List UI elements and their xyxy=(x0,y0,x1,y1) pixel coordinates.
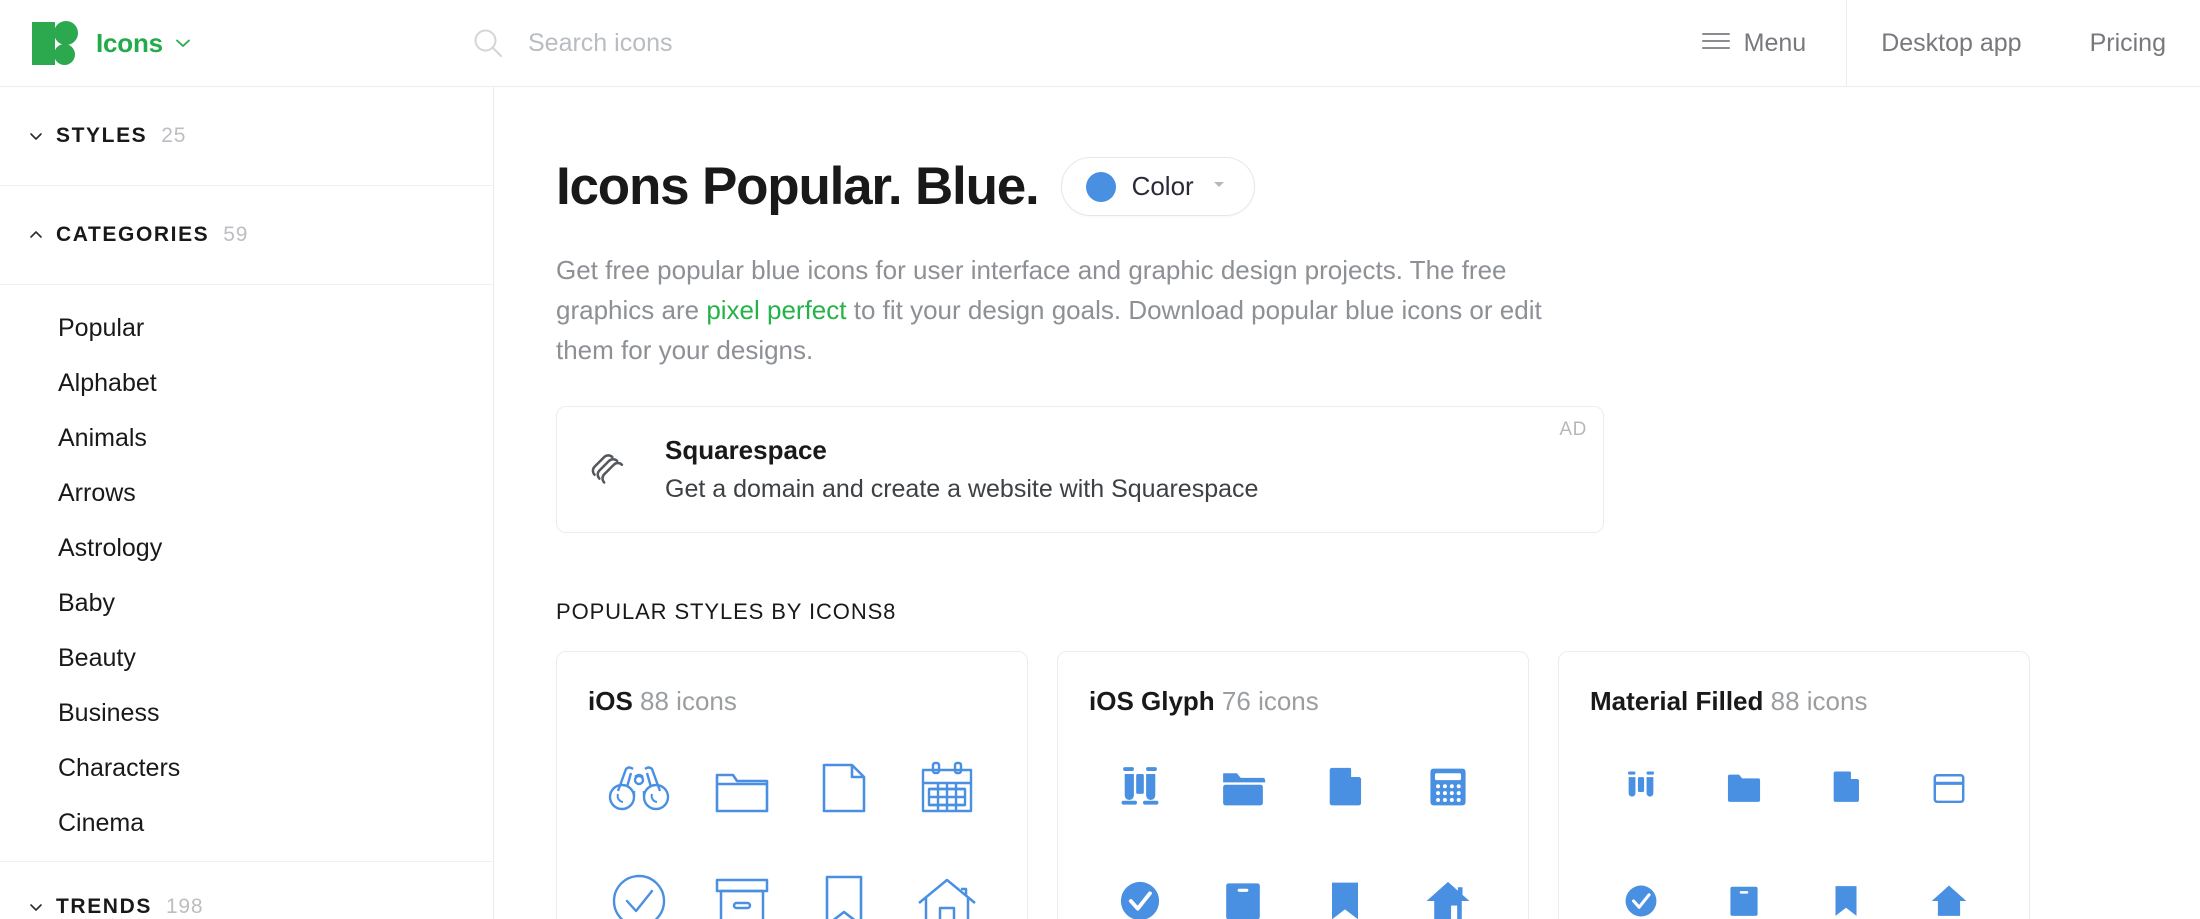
search-bar[interactable] xyxy=(462,0,1662,86)
folder-icon[interactable] xyxy=(691,739,794,835)
check-circle-icon[interactable] xyxy=(1089,853,1192,919)
nav-link-pricing[interactable]: Pricing xyxy=(2056,0,2200,86)
style-card-name: Material Filled xyxy=(1590,686,1763,716)
box-icon[interactable] xyxy=(691,853,794,919)
home-icon[interactable] xyxy=(896,853,999,919)
style-card-count: 88 icons xyxy=(640,686,737,716)
style-card-title: iOS 88 icons xyxy=(588,686,1027,717)
document-icon[interactable] xyxy=(1795,739,1898,835)
bookmark-icon[interactable] xyxy=(1795,853,1898,919)
advertisement-card[interactable]: AD Squarespace Get a domain and create a… xyxy=(556,406,1604,533)
calendar-icon[interactable] xyxy=(896,739,999,835)
color-swatch-icon xyxy=(1086,172,1116,202)
icon-grid xyxy=(588,739,998,919)
bookmark-icon[interactable] xyxy=(1294,853,1397,919)
page-root: Icons Menu Desktop app Pricing xyxy=(0,0,2200,919)
header-right-nav: Menu Desktop app Pricing xyxy=(1662,0,2200,86)
sidebar-section-label: CATEGORIES xyxy=(56,223,209,247)
title-row: Icons Popular. Blue. Color xyxy=(556,157,2200,216)
squarespace-logo-icon xyxy=(557,447,661,493)
sidebar-section-count: 59 xyxy=(223,223,248,247)
style-card-count: 76 icons xyxy=(1222,686,1319,716)
menu-label: Menu xyxy=(1744,29,1807,58)
search-input[interactable] xyxy=(528,29,1168,58)
sidebar-item-popular[interactable]: Popular xyxy=(0,301,493,356)
sidebar-section-count: 25 xyxy=(161,124,186,148)
sidebar-item-baby[interactable]: Baby xyxy=(0,576,493,631)
binoculars-icon[interactable] xyxy=(588,739,691,835)
sidebar-section-trends[interactable]: TRENDS 198 xyxy=(0,862,493,919)
check-circle-icon[interactable] xyxy=(1590,853,1693,919)
style-card-title: Material Filled 88 icons xyxy=(1590,686,2029,717)
home-icon[interactable] xyxy=(1397,853,1500,919)
sidebar-item-beauty[interactable]: Beauty xyxy=(0,631,493,686)
sidebar-section-styles[interactable]: STYLES 25 xyxy=(0,87,493,186)
binoculars-icon[interactable] xyxy=(1089,739,1192,835)
menu-button[interactable]: Menu xyxy=(1662,0,1847,86)
home-icon[interactable] xyxy=(1898,853,2001,919)
style-card-material-filled[interactable]: Material Filled 88 icons xyxy=(1558,651,2030,919)
chevron-down-icon xyxy=(22,126,50,146)
page-title: Icons Popular. Blue. xyxy=(556,160,1039,213)
document-icon[interactable] xyxy=(1294,739,1397,835)
folder-icon[interactable] xyxy=(1192,739,1295,835)
main-content: Icons Popular. Blue. Color Get free popu… xyxy=(494,87,2200,919)
style-card-name: iOS Glyph xyxy=(1089,686,1215,716)
icons8-logo-icon xyxy=(32,18,82,68)
color-filter-label: Color xyxy=(1132,171,1194,202)
sidebar-item-alphabet[interactable]: Alphabet xyxy=(0,356,493,411)
sidebar-item-business[interactable]: Business xyxy=(0,686,493,741)
style-card-ios-glyph[interactable]: iOS Glyph 76 icons xyxy=(1057,651,1529,919)
style-card-title: iOS Glyph 76 icons xyxy=(1089,686,1528,717)
sidebar-item-astrology[interactable]: Astrology xyxy=(0,521,493,576)
sidebar: STYLES 25 CATEGORIES 59 Popular Alphabet… xyxy=(0,87,494,919)
brand-name: Icons xyxy=(96,28,163,59)
check-circle-icon[interactable] xyxy=(588,853,691,919)
page-description: Get free popular blue icons for user int… xyxy=(556,250,1566,370)
box-icon[interactable] xyxy=(1192,853,1295,919)
sidebar-item-arrows[interactable]: Arrows xyxy=(0,466,493,521)
pixel-perfect-link[interactable]: pixel perfect xyxy=(706,295,846,325)
color-filter-dropdown[interactable]: Color xyxy=(1061,157,1255,216)
sidebar-section-count: 198 xyxy=(166,895,203,919)
brand-logo[interactable]: Icons xyxy=(0,18,462,68)
icon-grid xyxy=(1089,739,1499,919)
binoculars-icon[interactable] xyxy=(1590,739,1693,835)
chevron-down-icon[interactable] xyxy=(173,33,193,53)
ad-text-block: Squarespace Get a domain and create a we… xyxy=(665,435,1258,504)
body-wrapper: STYLES 25 CATEGORIES 59 Popular Alphabet… xyxy=(0,87,2200,919)
style-card-name: iOS xyxy=(588,686,633,716)
ad-subtitle: Get a domain and create a website with S… xyxy=(665,475,1258,504)
box-icon[interactable] xyxy=(1693,853,1796,919)
sidebar-section-label: TRENDS xyxy=(56,895,152,919)
sidebar-section-categories[interactable]: CATEGORIES 59 xyxy=(0,186,493,285)
bookmark-icon[interactable] xyxy=(793,853,896,919)
chevron-up-icon xyxy=(22,225,50,245)
ad-badge: AD xyxy=(1559,419,1587,441)
sidebar-item-animals[interactable]: Animals xyxy=(0,411,493,466)
hamburger-icon xyxy=(1702,29,1730,58)
style-cards-row: iOS 88 icons xyxy=(556,651,2200,919)
nav-link-desktop-app[interactable]: Desktop app xyxy=(1847,0,2055,86)
calculator-icon[interactable] xyxy=(1397,739,1500,835)
sidebar-item-characters[interactable]: Characters xyxy=(0,741,493,796)
chevron-down-icon xyxy=(1210,175,1228,198)
chevron-down-icon xyxy=(22,897,50,917)
sidebar-section-label: STYLES xyxy=(56,124,147,148)
calendar-icon[interactable] xyxy=(1898,739,2001,835)
site-header: Icons Menu Desktop app Pricing xyxy=(0,0,2200,87)
style-card-count: 88 icons xyxy=(1771,686,1868,716)
ad-title: Squarespace xyxy=(665,435,1258,466)
icon-grid xyxy=(1590,739,2000,919)
document-icon[interactable] xyxy=(793,739,896,835)
folder-icon[interactable] xyxy=(1693,739,1796,835)
category-list: Popular Alphabet Animals Arrows Astrolog… xyxy=(0,285,493,862)
sidebar-item-cinema[interactable]: Cinema xyxy=(0,796,493,851)
search-icon xyxy=(470,25,506,61)
style-card-ios[interactable]: iOS 88 icons xyxy=(556,651,1028,919)
popular-styles-heading: POPULAR STYLES BY ICONS8 xyxy=(556,599,2200,625)
